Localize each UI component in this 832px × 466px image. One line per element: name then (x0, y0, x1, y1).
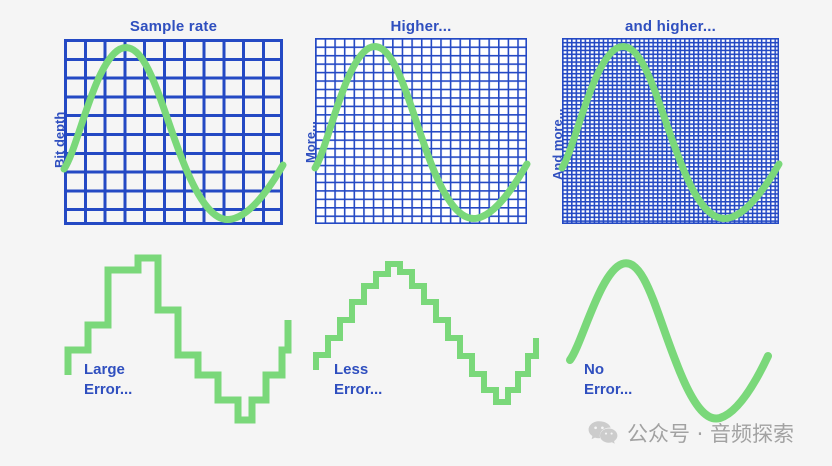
label-no-error: No Error... (584, 360, 632, 400)
label-less-error: Less Error... (334, 360, 382, 400)
sine-wave-dense (562, 38, 779, 224)
sine-wave-medium (315, 38, 527, 224)
panel-title-higher: Higher... (315, 18, 527, 35)
staircase-coarse (60, 250, 295, 440)
grid-medium (315, 38, 527, 224)
label-large-error: Large Error... (84, 360, 132, 400)
grid-coarse (64, 39, 283, 225)
panel-title-and-higher: and higher... (562, 18, 779, 35)
watermark-text: 公众号 · 音频探索 (627, 418, 794, 448)
staircase-fine (310, 250, 540, 440)
wechat-icon (588, 420, 618, 446)
grid-dense (562, 38, 779, 224)
panel-title-sample-rate: Sample rate (64, 18, 283, 35)
smooth-sine-wave (560, 250, 800, 440)
sine-wave-coarse (64, 39, 283, 225)
illustration-canvas: Sample rate Bit depth (0, 0, 832, 466)
watermark: 公众号 · 音频探索 (588, 418, 794, 448)
